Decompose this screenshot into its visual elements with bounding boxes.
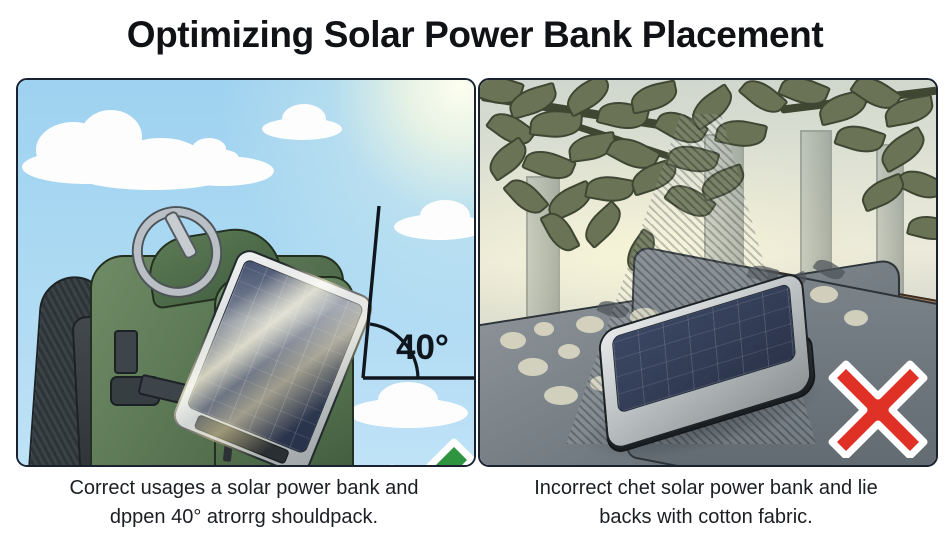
page-title: Optimizing Solar Power Bank Placement bbox=[0, 14, 950, 56]
backpack-webbing-upper bbox=[114, 330, 138, 374]
angle-label: 40° bbox=[396, 328, 449, 368]
caption-line: Incorrect chet solar power bank and lie bbox=[478, 474, 934, 503]
shady-forest-scene bbox=[480, 80, 936, 465]
incorrect-placement-caption: Incorrect chet solar power bank and lie … bbox=[478, 474, 934, 532]
angle-arc-icon bbox=[318, 202, 474, 402]
dappled-light-spot bbox=[500, 332, 526, 349]
caption-line: Correct usages a solar power bank and bbox=[16, 474, 472, 503]
infographic-root: Optimizing Solar Power Bank Placement bbox=[0, 0, 950, 540]
correct-placement-panel: 40° bbox=[16, 78, 476, 467]
dappled-light-spot bbox=[844, 310, 868, 326]
dappled-light-spot bbox=[544, 386, 578, 405]
dappled-light-spot bbox=[534, 322, 554, 336]
incorrect-placement-panel bbox=[478, 78, 938, 467]
dappled-light-spot bbox=[810, 286, 838, 303]
sunny-backpack-scene: 40° bbox=[18, 80, 474, 465]
correct-placement-caption: Correct usages a solar power bank and dp… bbox=[16, 474, 472, 532]
x-icon bbox=[826, 358, 930, 463]
caption-line: dppen 40° atrorrg shouldpack. bbox=[16, 503, 472, 532]
dappled-light-spot bbox=[558, 344, 580, 359]
caption-line: backs with cotton fabric. bbox=[478, 503, 934, 532]
dappled-light-spot bbox=[518, 358, 548, 376]
check-icon bbox=[362, 436, 476, 467]
